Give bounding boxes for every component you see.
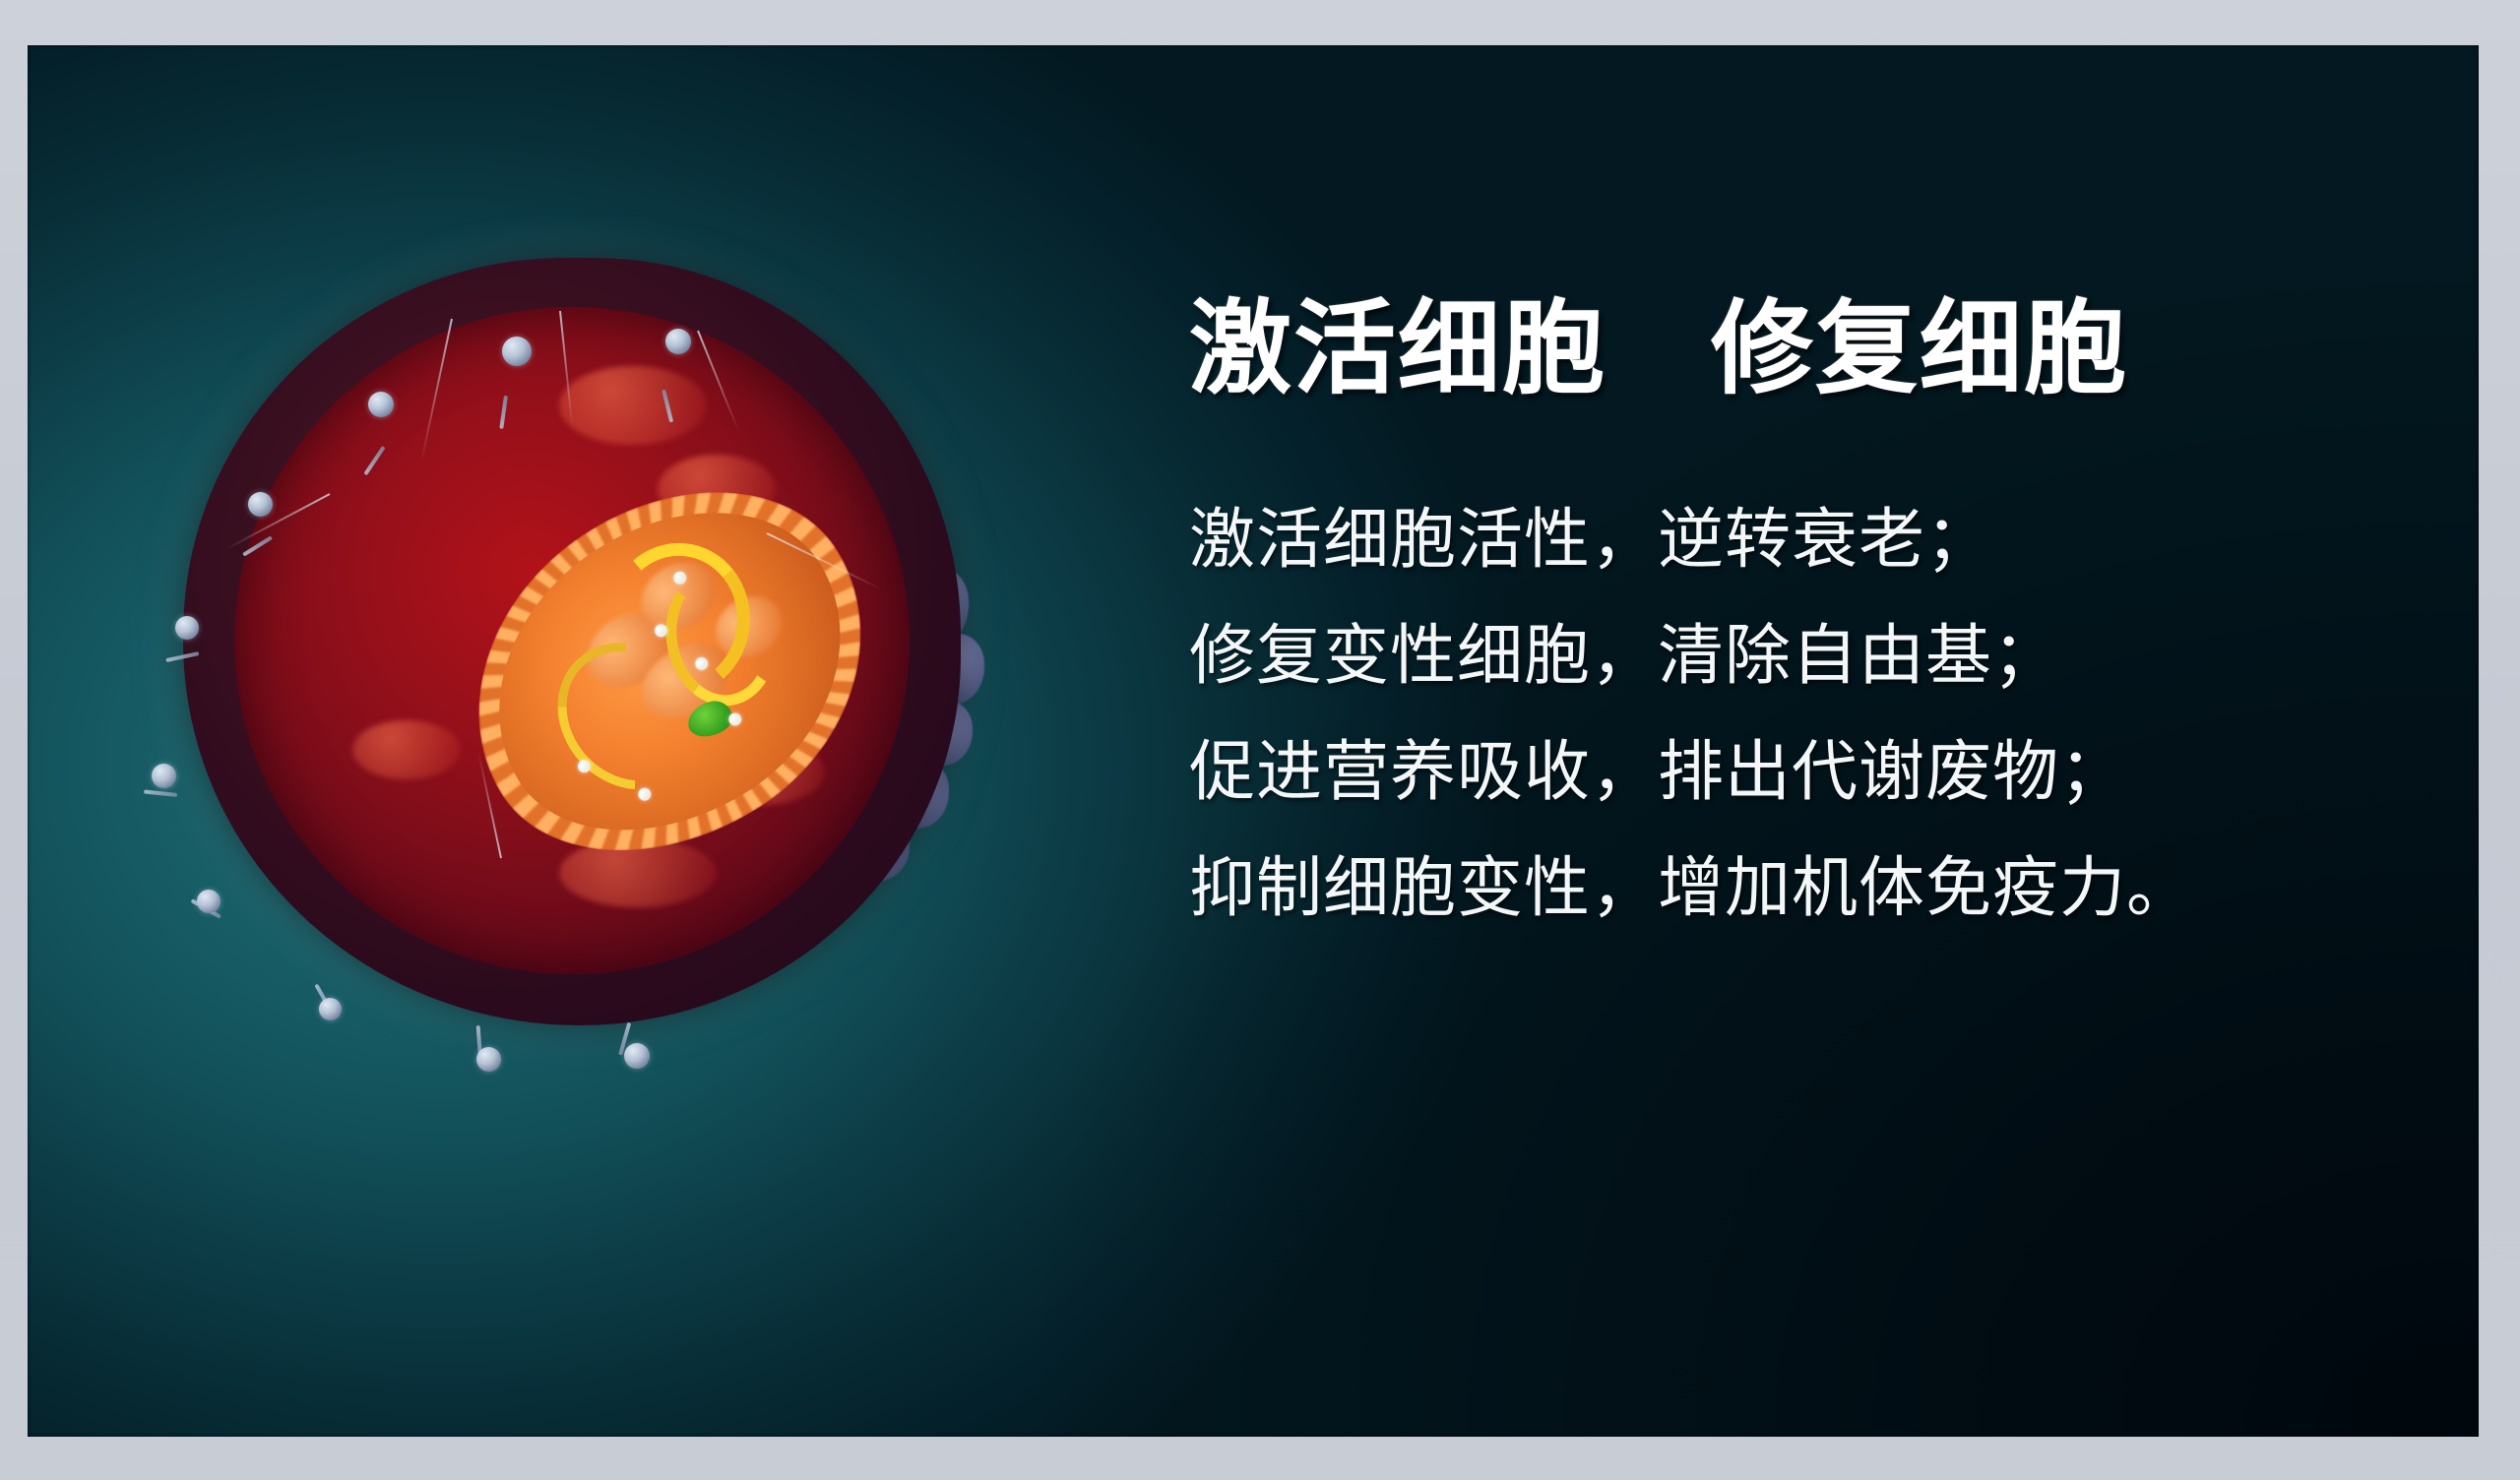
cytoplasm-speck bbox=[559, 366, 707, 445]
text-column: 激活细胞 修复细胞 激活细胞活性，逆转衰老； 修复变性细胞，清除自由基； 促进营… bbox=[1189, 291, 2420, 947]
nucleus-body bbox=[437, 455, 902, 890]
list-item: 抑制细胞变性，增加机体免疫力。 bbox=[1189, 831, 2420, 947]
cell-outer-membrane bbox=[183, 258, 961, 1025]
list-item: 促进营养吸收，排出代谢废物； bbox=[1189, 714, 2420, 831]
list-item: 激活细胞活性，逆转衰老； bbox=[1189, 482, 2420, 598]
page-title: 激活细胞 修复细胞 bbox=[1189, 291, 2420, 405]
cytoskeleton-fibre bbox=[420, 319, 453, 463]
cytoplasm-speck bbox=[352, 720, 461, 779]
slide-canvas: 激活细胞 修复细胞 激活细胞活性，逆转衰老； 修复变性细胞，清除自由基； 促进营… bbox=[28, 45, 2479, 1437]
list-item: 修复变性细胞，清除自由基； bbox=[1189, 598, 2420, 714]
cell-illustration bbox=[136, 203, 1002, 1069]
slide-frame: 激活细胞 修复细胞 激活细胞活性，逆转衰老； 修复变性细胞，清除自由基； 促进营… bbox=[0, 0, 2520, 1480]
cell-cytoplasm bbox=[234, 307, 910, 974]
benefit-list: 激活细胞活性，逆转衰老； 修复变性细胞，清除自由基； 促进营养吸收，排出代谢废物… bbox=[1189, 482, 2420, 947]
